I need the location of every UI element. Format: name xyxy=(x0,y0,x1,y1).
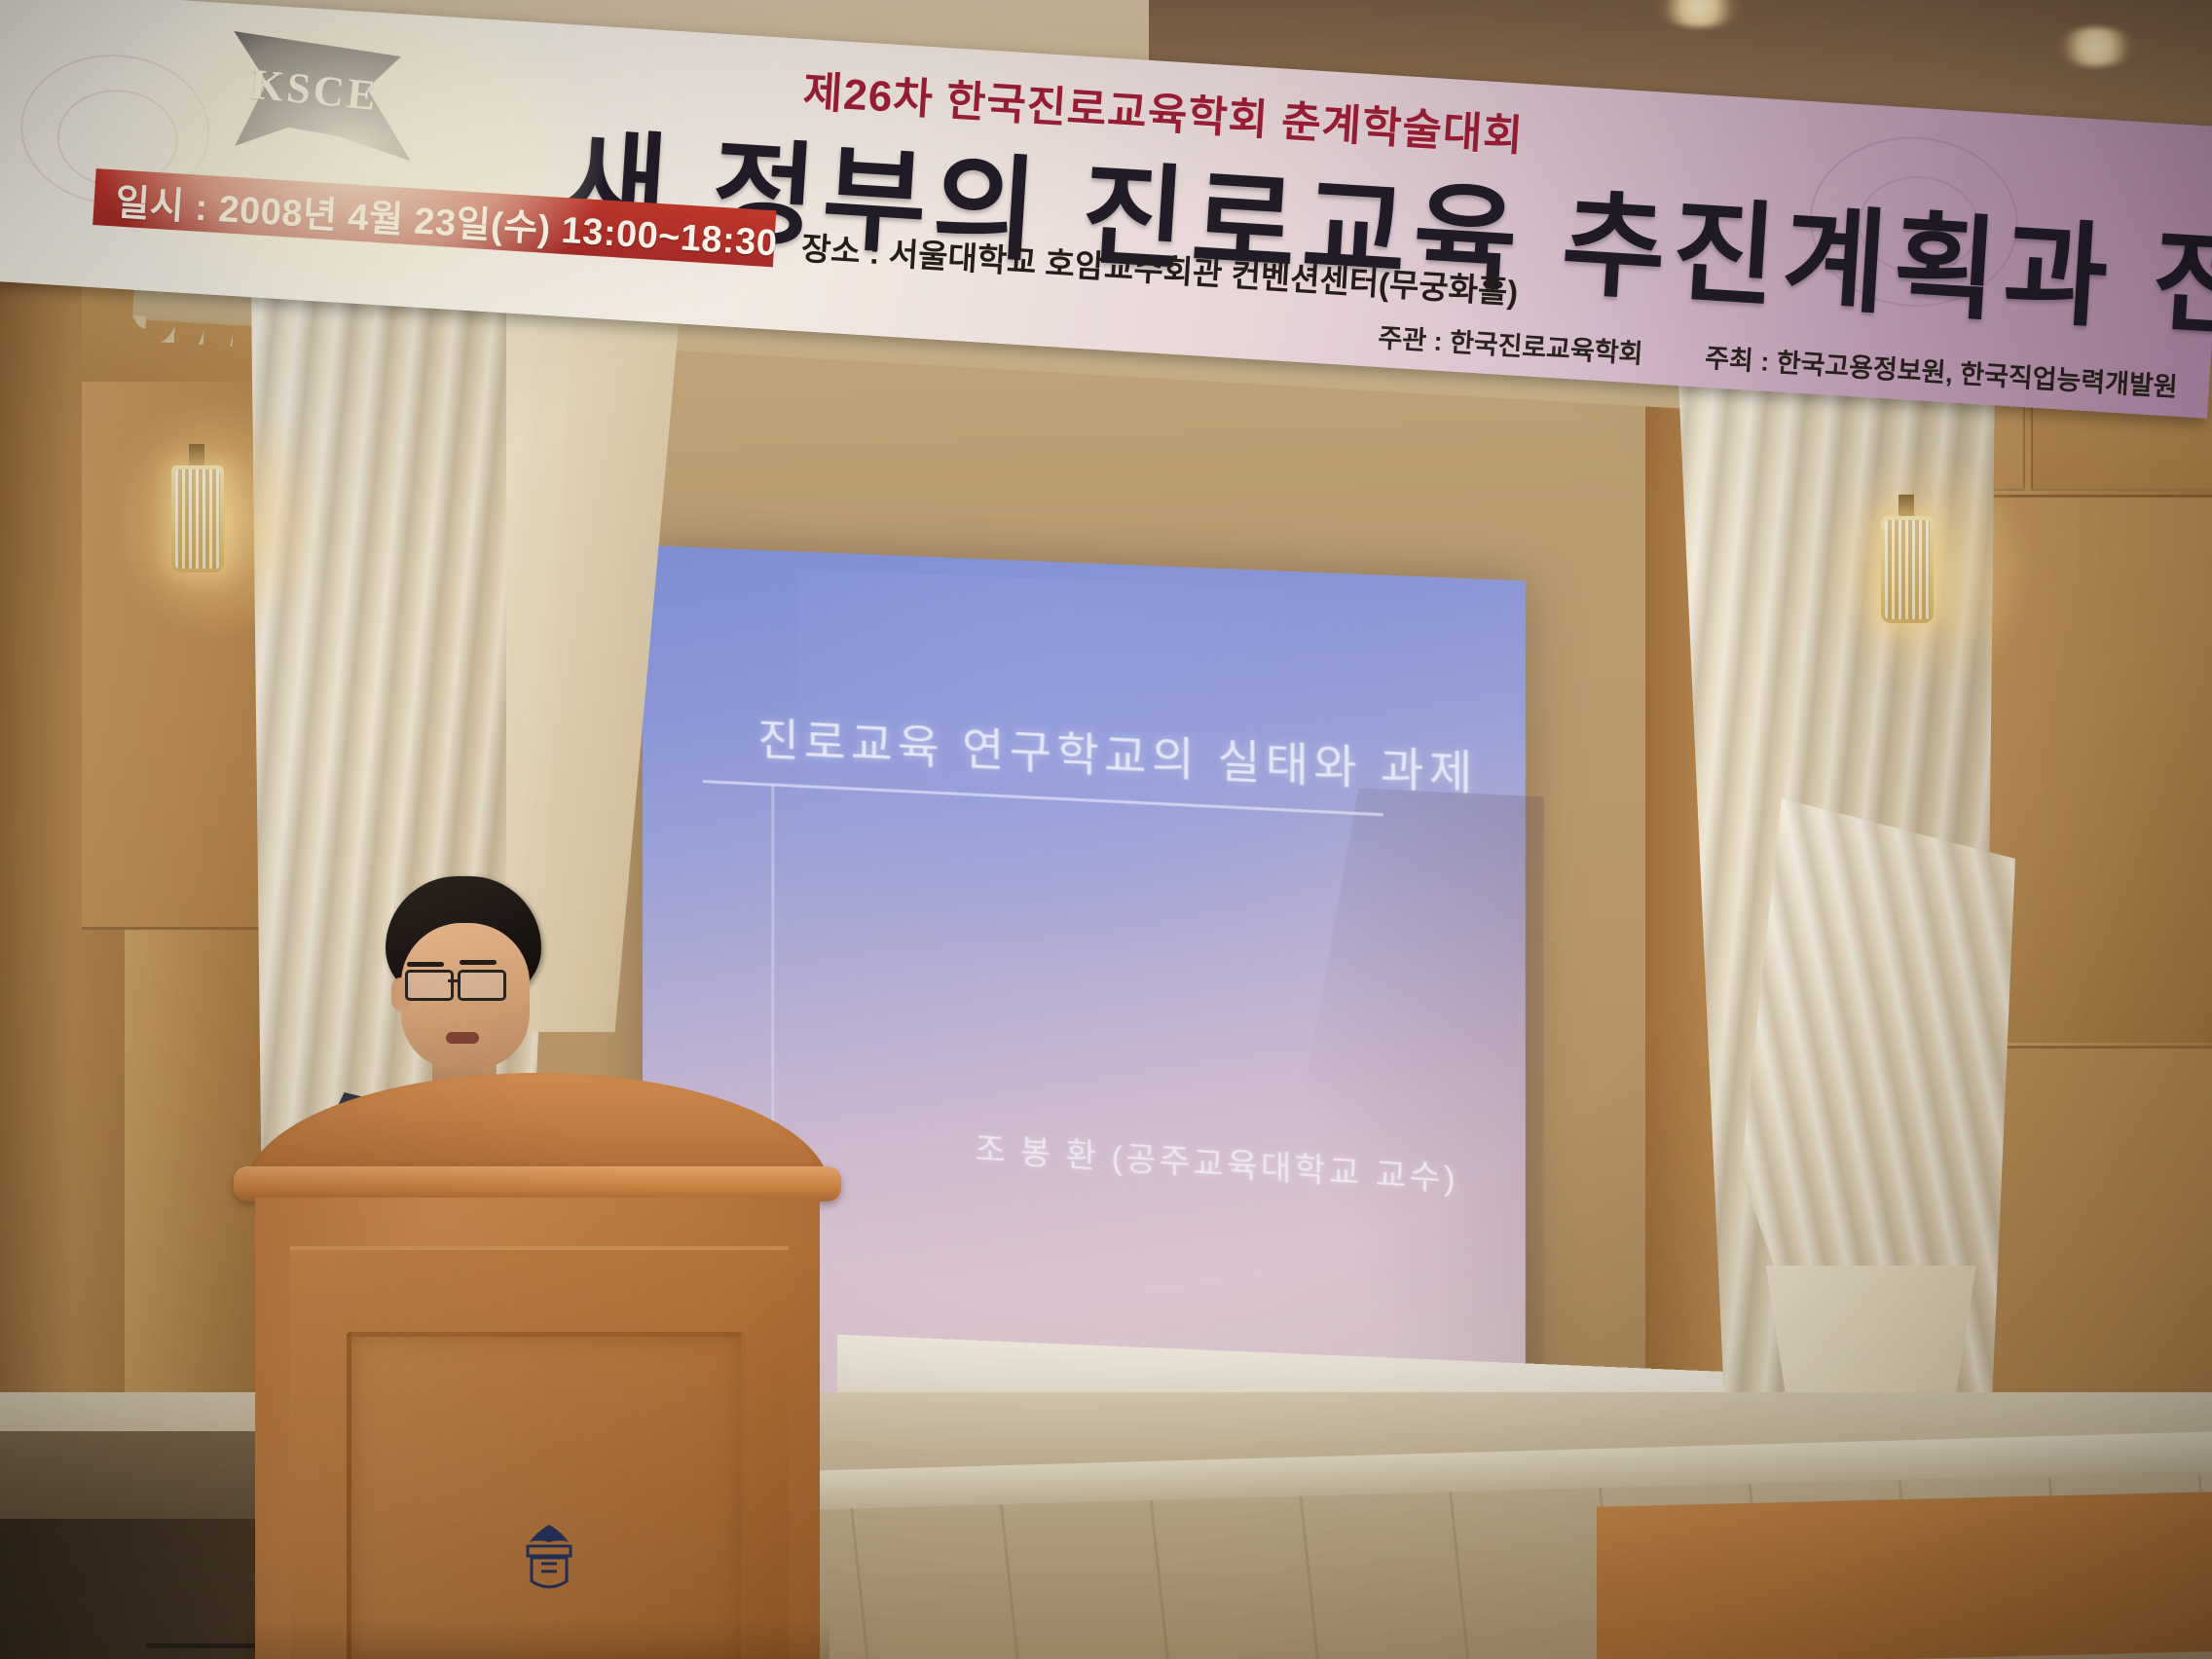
eyeglasses-bridge xyxy=(448,979,460,982)
ksce-logo: KSCE xyxy=(210,22,419,170)
stage-wood-apron xyxy=(1597,1492,2212,1659)
eyebrow-left xyxy=(407,962,444,967)
eyeglasses-lens-right xyxy=(458,970,506,1001)
university-emblem-icon xyxy=(520,1523,578,1593)
lectern-podium xyxy=(245,1073,829,1659)
eyebrow-right xyxy=(460,960,497,965)
mouth xyxy=(446,1032,479,1044)
podium-molding xyxy=(234,1166,841,1201)
sconce-lamp-icon xyxy=(1881,516,1934,623)
eyeglasses-lens-left xyxy=(405,970,454,1001)
ceiling-downlight-icon xyxy=(2054,27,2138,66)
conference-photo: 진로교육 연구학교의 실태와 과제 조 봉 환 (공주교육대학교 교수) xyxy=(0,0,2212,1659)
podium-recessed-panel xyxy=(347,1332,746,1659)
banner-org-host: 주관 : 한국진로교육학회 xyxy=(1377,316,1643,371)
podium-shadow xyxy=(245,1618,829,1659)
sconce-lamp-icon xyxy=(171,465,224,572)
